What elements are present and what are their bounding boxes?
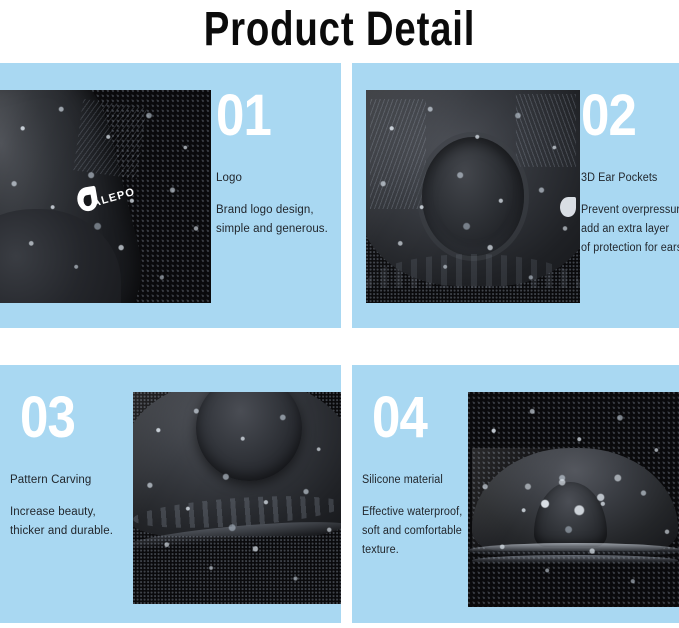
panel-body-line: simple and generous.	[216, 220, 341, 239]
panel-number-04: 04	[372, 391, 458, 445]
panel-number-03: 03	[20, 391, 120, 445]
panel-text-03: 03 Pattern Carving Increase beauty, thic…	[10, 391, 134, 541]
detail-panel-02: 02 3D Ear Pockets Prevent overpressure, …	[352, 63, 679, 328]
panel-body-line: Effective waterproof,	[362, 503, 464, 522]
panel-body-line: Prevent overpressure,	[581, 201, 675, 220]
detail-panel-01: ALEPO 01 Logo Brand logo design, simple …	[0, 63, 341, 328]
panel-heading-03: Pattern Carving	[10, 473, 134, 488]
page-title: Product Detail	[68, 2, 611, 58]
panel-body-line: add an extra layer	[581, 220, 675, 239]
panel-heading-04: Silicone material	[362, 473, 464, 488]
panel-body-line: texture.	[362, 541, 464, 560]
ridge-texture	[370, 99, 426, 210]
panel-body-line: of protection for ears.	[581, 239, 675, 258]
panel-heading-02: 3D Ear Pockets	[581, 171, 675, 186]
panel-text-02: 02 3D Ear Pockets Prevent overpressure, …	[581, 89, 679, 258]
panel-body-line: Increase beauty,	[10, 503, 134, 522]
alepo-wordmark: ALEPO	[92, 187, 137, 210]
detail-panel-04: 04 Silicone material Effective waterproo…	[352, 365, 679, 623]
product-photo-02	[366, 90, 580, 303]
ridge-texture	[516, 94, 576, 166]
panel-body-line: soft and comfortable	[362, 522, 464, 541]
product-photo-04	[468, 392, 679, 607]
product-photo-03	[133, 392, 341, 604]
panel-text-04: 04 Silicone material Effective waterproo…	[362, 391, 470, 560]
panel-body-line: Brand logo design,	[216, 201, 341, 220]
ridge-texture	[74, 99, 148, 180]
panel-text-01: 01 Logo Brand logo design, simple and ge…	[216, 89, 341, 239]
alepo-logo-glyph-icon	[560, 197, 576, 217]
panel-number-01: 01	[216, 89, 327, 143]
detail-panel-03: 03 Pattern Carving Increase beauty, thic…	[0, 365, 341, 623]
panel-number-02: 02	[581, 89, 669, 143]
panel-heading-01: Logo	[216, 171, 341, 186]
ear-pocket	[422, 137, 525, 256]
panel-body-line: thicker and durable.	[10, 522, 134, 541]
panel-grid: ALEPO 01 Logo Brand logo design, simple …	[0, 63, 679, 623]
product-photo-01: ALEPO	[0, 90, 211, 303]
